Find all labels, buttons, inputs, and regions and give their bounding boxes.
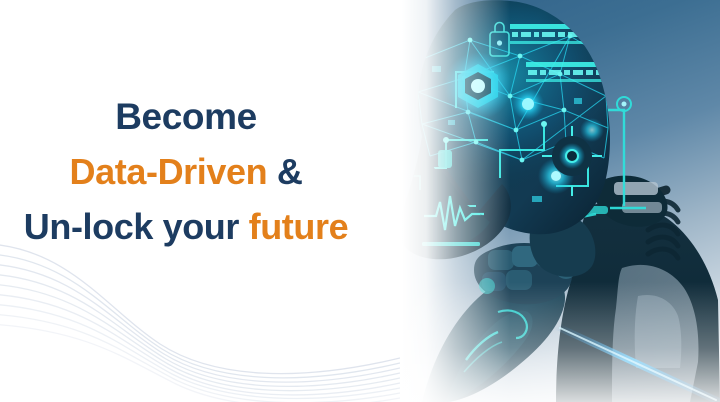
headline-line-2: Data-Driven &	[0, 154, 372, 190]
headline-space-2	[267, 151, 277, 192]
headline-word-become: Become	[115, 96, 257, 137]
panel-bottom-fade	[360, 282, 720, 402]
promo-banner: Become Data-Driven & Un-lock your future	[0, 0, 720, 402]
headline-word-unlock-your: Un-lock your	[24, 206, 239, 247]
flowing-wave-ribbon	[0, 232, 400, 402]
hero-image-panel	[360, 0, 720, 402]
headline-line-1: Become	[0, 98, 372, 135]
headline-block: Become Data-Driven & Un-lock your future	[0, 98, 372, 245]
headline-space-3	[239, 206, 249, 247]
headline-line-3: Un-lock your future	[0, 209, 372, 245]
headline-word-ampersand: &	[277, 151, 303, 192]
headline-word-future: future	[249, 206, 349, 247]
headline-word-data-driven: Data-Driven	[70, 151, 268, 192]
